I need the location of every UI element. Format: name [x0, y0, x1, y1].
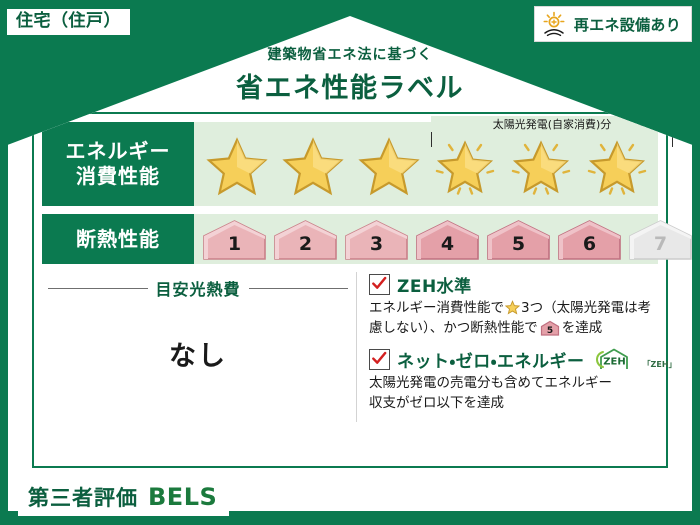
utility-cost-title: 目安光熱費: [156, 276, 241, 300]
renewable-energy-label: 再エネ設備あり: [574, 14, 681, 35]
energy-key-line1: エネルギー: [66, 139, 171, 163]
insulation-badge-inline: 5: [540, 320, 560, 336]
svg-text:ZEH: ZEH: [603, 357, 625, 368]
star-icon: [352, 131, 426, 197]
svg-text:5: 5: [547, 326, 553, 336]
criterion-text-part2: 収支がゼロ以下を達成: [369, 395, 504, 411]
third-party-label: 第三者評価: [28, 482, 138, 512]
insulation-performance-row: 断熱性能 1: [34, 214, 666, 264]
insulation-level-badge: 1: [200, 218, 269, 260]
criterion-text-part2: 3つ（太陽光発電: [521, 300, 624, 316]
insulation-performance-key: 断熱性能: [42, 214, 194, 264]
performance-panel: エネルギー 消費性能 太陽光発電(自家消費)分: [32, 112, 668, 468]
document-id: 3cb263da-2f59-41bd: [502, 500, 688, 510]
bels-number-group: 0285358-01102: [232, 487, 372, 503]
label-body: 建築物省エネ法に基づく 省エネ性能ラベル エネルギー 消費性能: [8, 16, 692, 511]
evaluation-date-label: 評価日: [502, 479, 549, 497]
checkbox-checked-icon: [369, 349, 390, 370]
insulation-level-number: 6: [583, 233, 596, 260]
page-title: 省エネ性能ラベル: [8, 66, 692, 105]
rule-right: [249, 288, 349, 289]
insulation-level-badge: 6: [555, 218, 624, 260]
energy-performance-row: エネルギー 消費性能 太陽光発電(自家消費)分: [34, 122, 666, 206]
utility-cost-value: なし: [48, 334, 348, 373]
star-icon-solar: [504, 131, 578, 197]
criterion-title: ネット・ゼロ・エネルギー: [397, 347, 585, 372]
star-icon-solar: [428, 131, 502, 197]
header-block: 建築物省エネ法に基づく 省エネ性能ラベル: [8, 44, 692, 105]
evaluation-date-line: 評価日 2025年10月27日: [502, 477, 688, 498]
zeh-logo-caption: 「ZEH」: [643, 359, 677, 372]
criterion-header: ネット・ゼロ・エネルギー ZEH 「ZEH」: [369, 347, 658, 372]
energy-performance-value: 太陽光発電(自家消費)分: [194, 122, 658, 206]
insulation-level-number: 5: [512, 233, 525, 260]
insulation-level-number: 1: [228, 233, 241, 260]
criterion-net-zero-energy: ネット・ゼロ・エネルギー ZEH 「ZEH」 太陽光: [369, 347, 658, 414]
bels-number: 0285358-01: [232, 487, 322, 503]
insulation-level-badge: 2: [271, 218, 340, 260]
evaluation-info: 評価日 2025年10月27日 3cb263da-2f59-41bd: [502, 477, 688, 510]
criterion-zeh-level: ZEH水準 エネルギー消費性能で3つ（太陽光発電は考慮しない）、かつ断熱性能で5…: [369, 272, 658, 339]
star-rating: [194, 122, 658, 206]
criterion-header: ZEH水準: [369, 272, 658, 297]
insulation-level-number: 2: [299, 233, 312, 260]
bels-unit-number: 102: [344, 487, 372, 503]
evaluation-date-value: 2025年10月27日: [554, 479, 688, 497]
star-icon-solar: [580, 131, 654, 197]
sun-solar-icon: [541, 11, 567, 37]
criterion-description: 太陽光発電の売電分も含めてエネルギー 収支がゼロ以下を達成: [369, 374, 658, 414]
utility-cost-block: 目安光熱費 なし: [48, 276, 348, 452]
rule-left: [48, 288, 148, 289]
star-icon: [200, 131, 274, 197]
star-icon: [276, 131, 350, 197]
criterion-text-part1: 太陽光発電の売電分も含めてエネルギー: [369, 375, 612, 391]
criterion-title: ZEH水準: [397, 272, 472, 297]
utility-cost-title-row: 目安光熱費: [48, 276, 348, 300]
bels-badge: 第三者評価 BELS: [18, 479, 229, 516]
star-icon-inline: [505, 300, 520, 315]
footer-bar: 第三者評価 BELS 0285358-01102 評価日 2025年10月27日…: [0, 471, 700, 525]
criterion-description: エネルギー消費性能で3つ（太陽光発電は考慮しない）、かつ断熱性能で5を達成: [369, 299, 658, 339]
insulation-level-badge: 4: [413, 218, 482, 260]
criterion-text-part4: を達成: [562, 320, 603, 336]
header-subtitle: 建築物省エネ法に基づく: [8, 44, 692, 64]
insulation-performance-value: 1 2: [194, 214, 658, 264]
renewable-energy-badge: 再エネ設備あり: [534, 6, 692, 42]
energy-key-line2: 消費性能: [76, 164, 160, 188]
insulation-level-badge: 5: [484, 218, 553, 260]
insulation-level-number: 7: [654, 233, 667, 260]
bels-logo-text: BELS: [148, 483, 217, 511]
criterion-text-part1: エネルギー消費性能で: [369, 300, 504, 316]
checkbox-checked-icon: [369, 274, 390, 295]
insulation-level-number: 3: [370, 233, 383, 260]
insulation-level-badge-inactive: 7: [626, 218, 695, 260]
insulation-level-badge: 3: [342, 218, 411, 260]
criteria-block: ZEH水準 エネルギー消費性能で3つ（太陽光発電は考慮しない）、かつ断熱性能で5…: [356, 272, 658, 422]
energy-label-root: 住宅（住戸） 再エネ設備あり 建築物省エネ法に基づ: [0, 0, 700, 525]
energy-performance-key: エネルギー 消費性能: [42, 122, 194, 206]
insulation-level-number: 4: [441, 233, 454, 260]
insulation-level-scale: 1 2: [194, 214, 658, 264]
zeh-house-logo-icon: ZEH: [592, 347, 636, 371]
category-tag: 住宅（住戸）: [6, 8, 131, 36]
